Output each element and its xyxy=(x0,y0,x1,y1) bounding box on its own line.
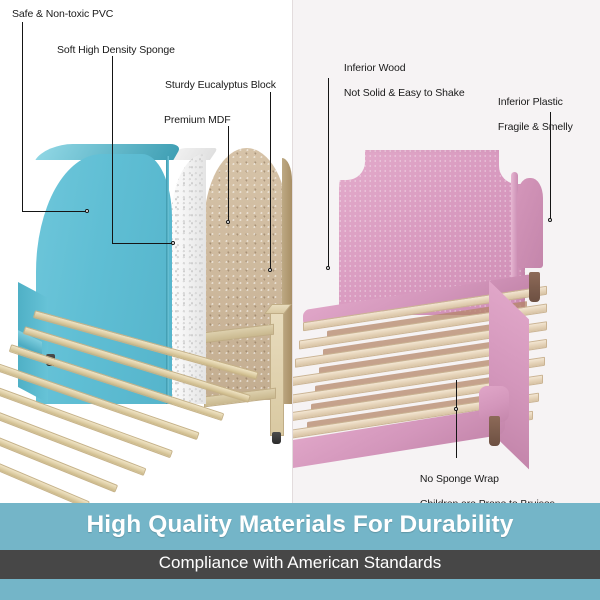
leader-dot-mdf xyxy=(226,220,230,224)
leader-dot-no-sponge xyxy=(454,407,458,411)
label-no-sponge-wrap: No Sponge Wrap Children are Prone to Bru… xyxy=(403,460,555,503)
leader-line-no-sponge-vertical xyxy=(456,380,457,458)
right-panel-inferior-product: Inferior Wood Not Solid & Easy to Shake … xyxy=(293,0,600,503)
label-premium-mdf: Premium MDF xyxy=(164,114,231,127)
leader-dot-sponge xyxy=(171,241,175,245)
banner-subtitle: Compliance with American Standards xyxy=(0,553,600,573)
label-inferior-plastic: Inferior Plastic Fragile & Smelly xyxy=(481,83,573,146)
leader-line-sponge-vertical xyxy=(112,56,113,244)
label-inferior-wood: Inferior Wood Not Solid & Easy to Shake xyxy=(327,49,465,112)
panel-divider xyxy=(292,0,293,503)
leader-line-sponge-horizontal xyxy=(112,243,174,244)
sponge-layer xyxy=(170,154,206,404)
leader-dot-pvc xyxy=(85,209,89,213)
label-inferior-wood-line1: Inferior Wood xyxy=(344,62,406,74)
leader-line-mdf-vertical xyxy=(228,126,229,222)
leader-line-pvc-horizontal xyxy=(22,211,88,212)
label-inferior-plastic-line1: Inferior Plastic xyxy=(498,96,563,108)
label-inferior-plastic-line2: Fragile & Smelly xyxy=(498,121,573,133)
leader-dot-inferior-wood xyxy=(326,266,330,270)
competitor-bed-photo xyxy=(293,150,600,480)
label-no-sponge-wrap-line1: No Sponge Wrap xyxy=(420,473,499,485)
leader-dot-inferior-plastic xyxy=(548,218,552,222)
banner-title: High Quality Materials For Durability xyxy=(0,511,600,539)
leader-dot-eucalyptus xyxy=(268,268,272,272)
leader-line-eucalyptus-vertical xyxy=(270,92,271,270)
bed-foot-rear xyxy=(272,432,281,444)
pvc-layer-seam xyxy=(166,156,169,404)
label-soft-high-density-sponge: Soft High Density Sponge xyxy=(57,44,175,57)
infographic-canvas: Safe & Non-toxic PVC Soft High Density S… xyxy=(0,0,600,600)
competitor-leg-right xyxy=(529,272,540,302)
leader-line-pvc-vertical xyxy=(22,22,23,212)
bottom-banner: High Quality Materials For Durability Co… xyxy=(0,503,600,600)
left-panel-quality-construction: Safe & Non-toxic PVC Soft High Density S… xyxy=(0,0,293,503)
label-sturdy-eucalyptus-block: Sturdy Eucalyptus Block xyxy=(165,79,276,92)
competitor-leg-front xyxy=(489,416,500,446)
label-safe-nontoxic-pvc: Safe & Non-toxic PVC xyxy=(12,8,113,21)
label-inferior-wood-line2: Not Solid & Easy to Shake xyxy=(344,87,465,99)
headboard-cutaway-illustration xyxy=(18,140,293,450)
headboard-side-wing xyxy=(517,178,543,268)
